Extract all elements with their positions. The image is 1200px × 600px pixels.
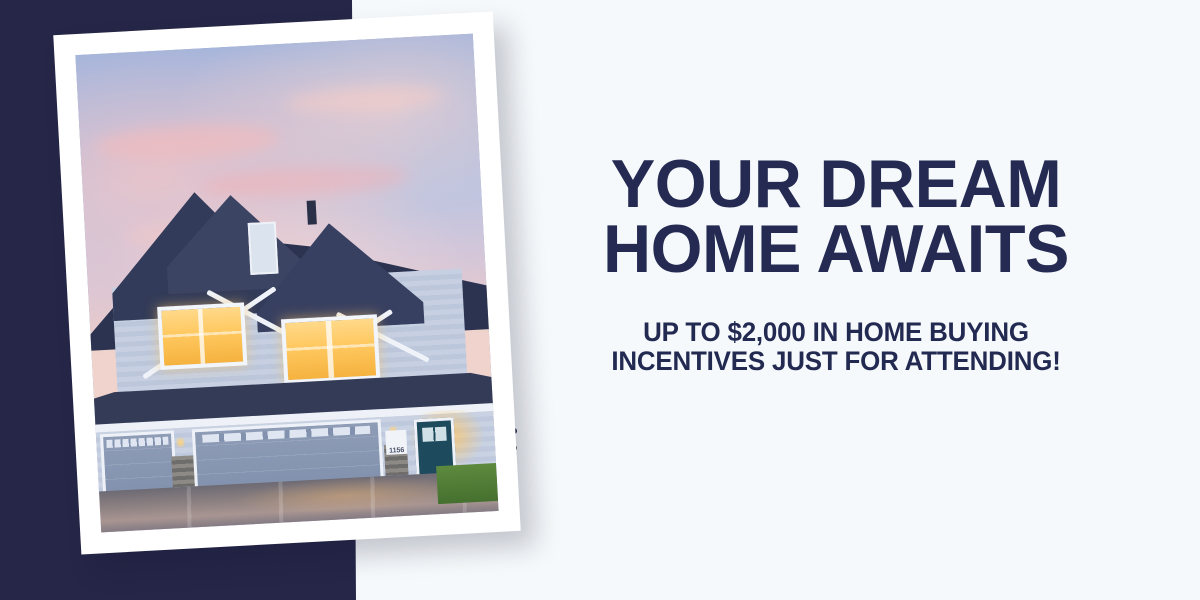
house-illustration: 1156 xyxy=(75,34,498,533)
lawn xyxy=(436,463,498,504)
subheading: UP TO $2,000 IN HOME BUYING INCENTIVES J… xyxy=(577,318,1095,376)
headline: YOUR DREAM HOME AWAITS xyxy=(571,152,1100,283)
lit-window xyxy=(281,314,380,384)
stone-veneer xyxy=(171,456,195,488)
headline-line-1: YOUR DREAM xyxy=(571,152,1100,217)
chimney xyxy=(306,200,316,224)
house-photo-frame: 1156 xyxy=(53,11,520,554)
promo-banner: 1156 YOUR DREAM HOME AWAITS UP TO $2,000… xyxy=(0,0,1200,600)
house-number: 1156 xyxy=(385,430,408,455)
house-photo: 1156 xyxy=(75,34,498,533)
subheading-line-2: INCENTIVES JUST FOR ATTENDING! xyxy=(577,347,1095,376)
subheading-line-1: UP TO $2,000 IN HOME BUYING xyxy=(577,318,1095,347)
wall-sconce-light xyxy=(176,435,186,451)
gable-vent xyxy=(248,221,279,274)
headline-line-2: HOME AWAITS xyxy=(571,217,1100,282)
lit-window xyxy=(157,302,248,370)
